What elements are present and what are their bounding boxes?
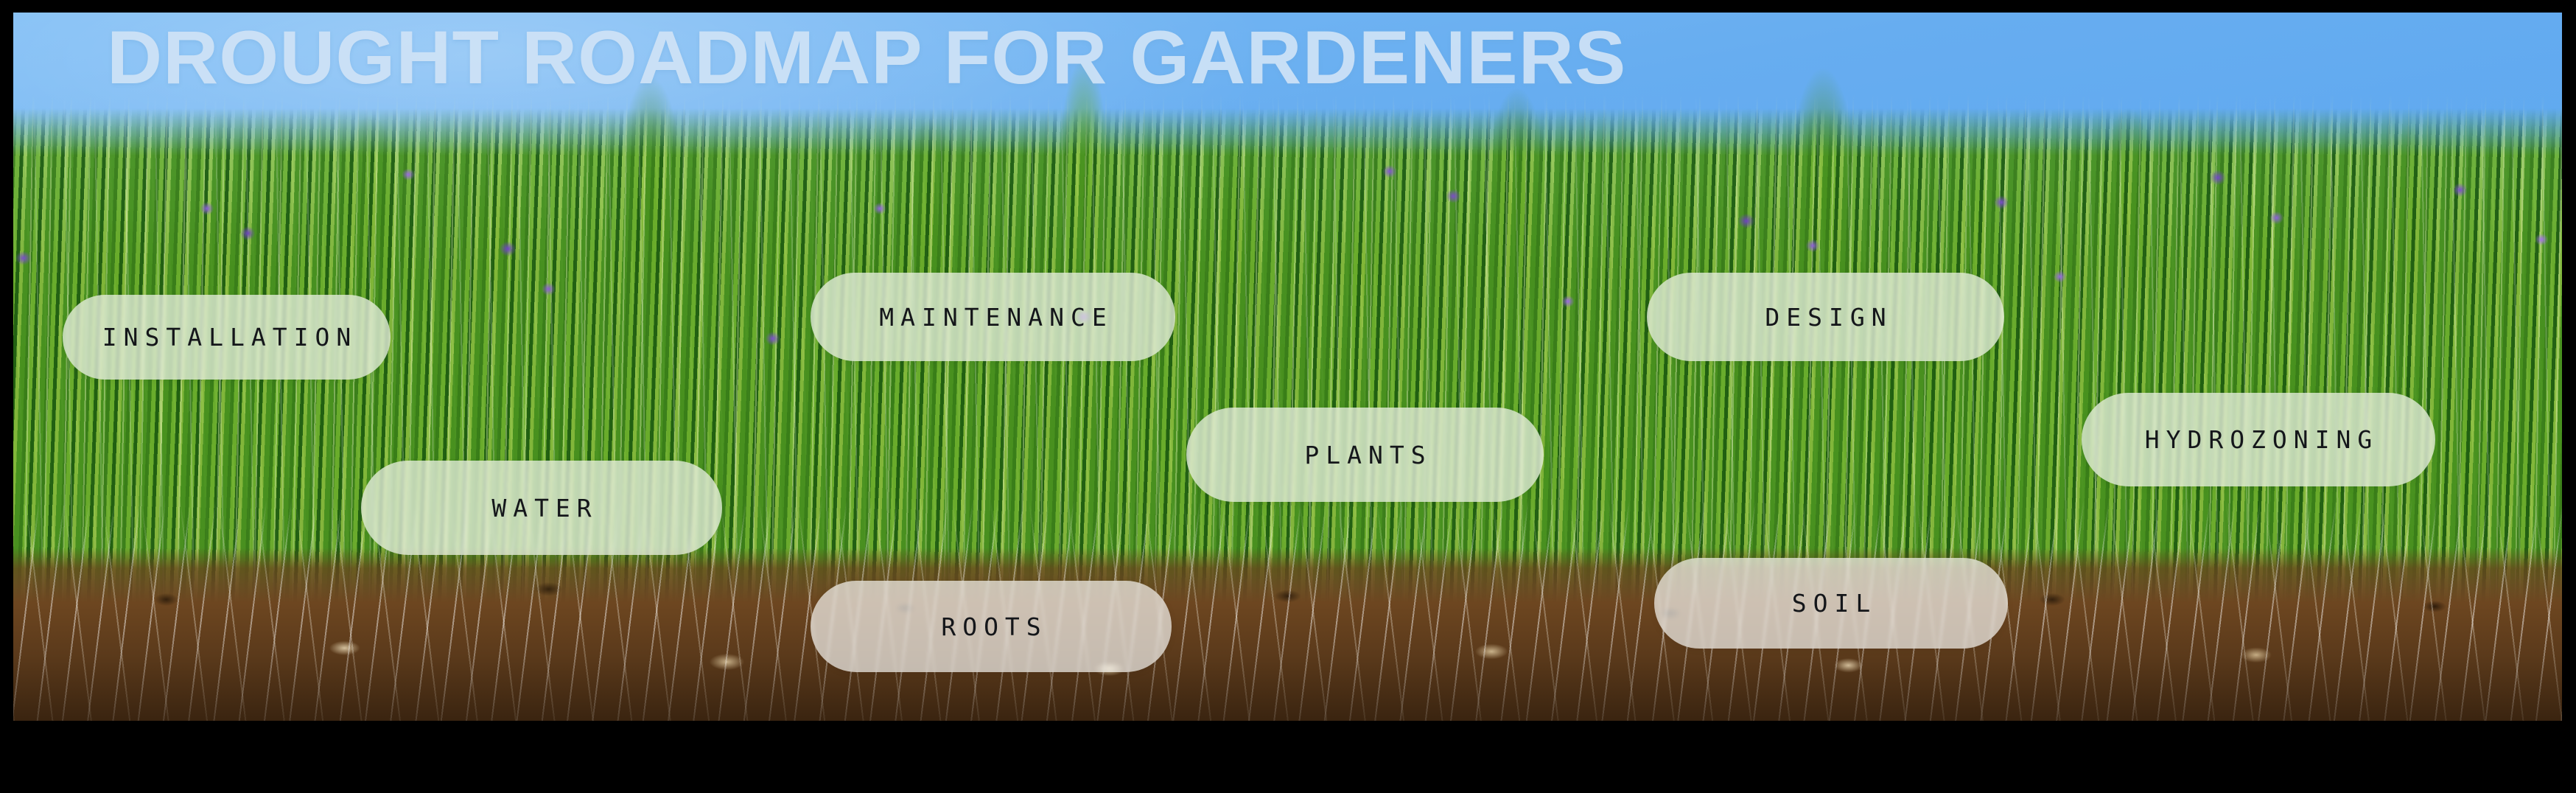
topic-pill-label: INSTALLATION: [96, 323, 357, 352]
topic-pill-design[interactable]: DESIGN: [1647, 273, 2004, 361]
topic-pill-label: PLANTS: [1298, 441, 1432, 469]
topic-pill-label: MAINTENANCE: [872, 303, 1113, 332]
topic-pill-hydrozoning[interactable]: HYDROZONING: [2082, 393, 2435, 486]
topic-pill-label: SOIL: [1785, 589, 1877, 618]
topic-pill-label: ROOTS: [934, 612, 1047, 641]
topic-pill-plants[interactable]: PLANTS: [1186, 408, 1544, 502]
topic-pill-roots[interactable]: ROOTS: [811, 581, 1172, 672]
garden-photo-backdrop: DROUGHT ROADMAP FOR GARDENERS INSTALLATI…: [13, 13, 2562, 721]
topic-pill-soil[interactable]: SOIL: [1654, 558, 2008, 649]
topic-pill-label: DESIGN: [1758, 303, 1892, 332]
flowers-layer: [13, 116, 2562, 425]
topic-pill-maintenance[interactable]: MAINTENANCE: [811, 273, 1175, 361]
topic-pill-label: WATER: [485, 494, 598, 523]
topic-pill-installation[interactable]: INSTALLATION: [63, 295, 391, 380]
topic-pill-water[interactable]: WATER: [361, 461, 722, 555]
infographic-canvas: DROUGHT ROADMAP FOR GARDENERS INSTALLATI…: [0, 0, 2576, 793]
topic-pill-label: HYDROZONING: [2138, 425, 2379, 454]
